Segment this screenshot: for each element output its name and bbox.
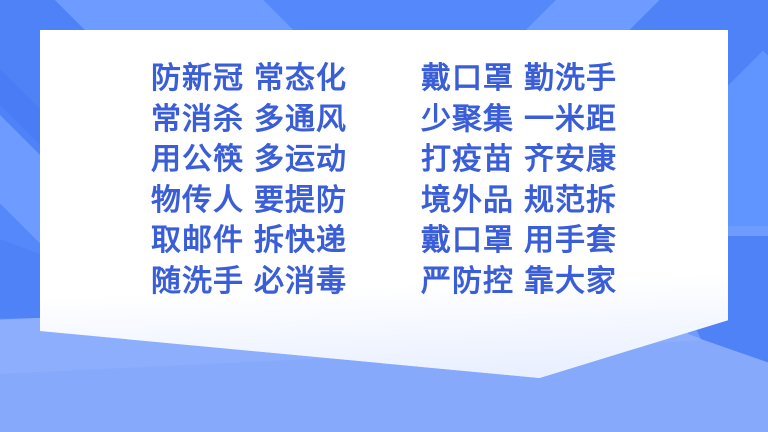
slogan-line: 用公筷多运动 (151, 141, 347, 179)
slogan-phrase-second: 多通风 (254, 103, 347, 136)
slogan-line: 常消杀多通风 (151, 101, 347, 139)
slogan-column-left: 防新冠常态化 常消杀多通风 用公筷多运动 物传人要提防 取邮件拆快递 随洗手必消… (151, 60, 347, 300)
slogan-phrase-first: 常消杀 (151, 103, 244, 136)
slogan-area: 防新冠常态化 常消杀多通风 用公筷多运动 物传人要提防 取邮件拆快递 随洗手必消… (40, 30, 728, 330)
slogan-phrase-first: 用公筷 (151, 143, 244, 176)
slogan-phrase-first: 随洗手 (151, 265, 244, 298)
slogan-phrase-first: 防新冠 (151, 62, 244, 95)
slogan-phrase-first: 严防控 (421, 265, 514, 298)
slogan-phrase-second: 一米距 (524, 103, 617, 136)
slogan-line: 戴口罩用手套 (421, 222, 617, 260)
slogan-phrase-second: 拆快递 (254, 224, 347, 257)
slogan-line: 随洗手必消毒 (151, 263, 347, 301)
slogan-line: 取邮件拆快递 (151, 222, 347, 260)
poster-canvas: 防新冠常态化 常消杀多通风 用公筷多运动 物传人要提防 取邮件拆快递 随洗手必消… (0, 0, 768, 432)
slogan-line: 境外品规范拆 (421, 182, 617, 220)
slogan-line: 少聚集一米距 (421, 101, 617, 139)
slogan-line: 打疫苗齐安康 (421, 141, 617, 179)
slogan-phrase-first: 境外品 (421, 184, 514, 217)
slogan-phrase-second: 规范拆 (524, 184, 617, 217)
slogan-phrase-first: 戴口罩 (421, 62, 514, 95)
slogan-column-right: 戴口罩勤洗手 少聚集一米距 打疫苗齐安康 境外品规范拆 戴口罩用手套 严防控靠大… (421, 60, 617, 300)
slogan-phrase-second: 用手套 (524, 224, 617, 257)
slogan-line: 防新冠常态化 (151, 60, 347, 98)
slogan-phrase-second: 多运动 (254, 143, 347, 176)
slogan-phrase-second: 常态化 (254, 62, 347, 95)
slogan-phrase-first: 打疫苗 (421, 143, 514, 176)
slogan-phrase-first: 取邮件 (151, 224, 244, 257)
slogan-line: 戴口罩勤洗手 (421, 60, 617, 98)
slogan-phrase-first: 物传人 (151, 184, 244, 217)
slogan-phrase-first: 戴口罩 (421, 224, 514, 257)
slogan-phrase-second: 要提防 (254, 184, 347, 217)
slogan-phrase-second: 勤洗手 (524, 62, 617, 95)
slogan-phrase-second: 齐安康 (524, 143, 617, 176)
slogan-phrase-second: 靠大家 (524, 265, 617, 298)
slogan-phrase-second: 必消毒 (254, 265, 347, 298)
slogan-phrase-first: 少聚集 (421, 103, 514, 136)
slogan-line: 物传人要提防 (151, 182, 347, 220)
slogan-line: 严防控靠大家 (421, 263, 617, 301)
